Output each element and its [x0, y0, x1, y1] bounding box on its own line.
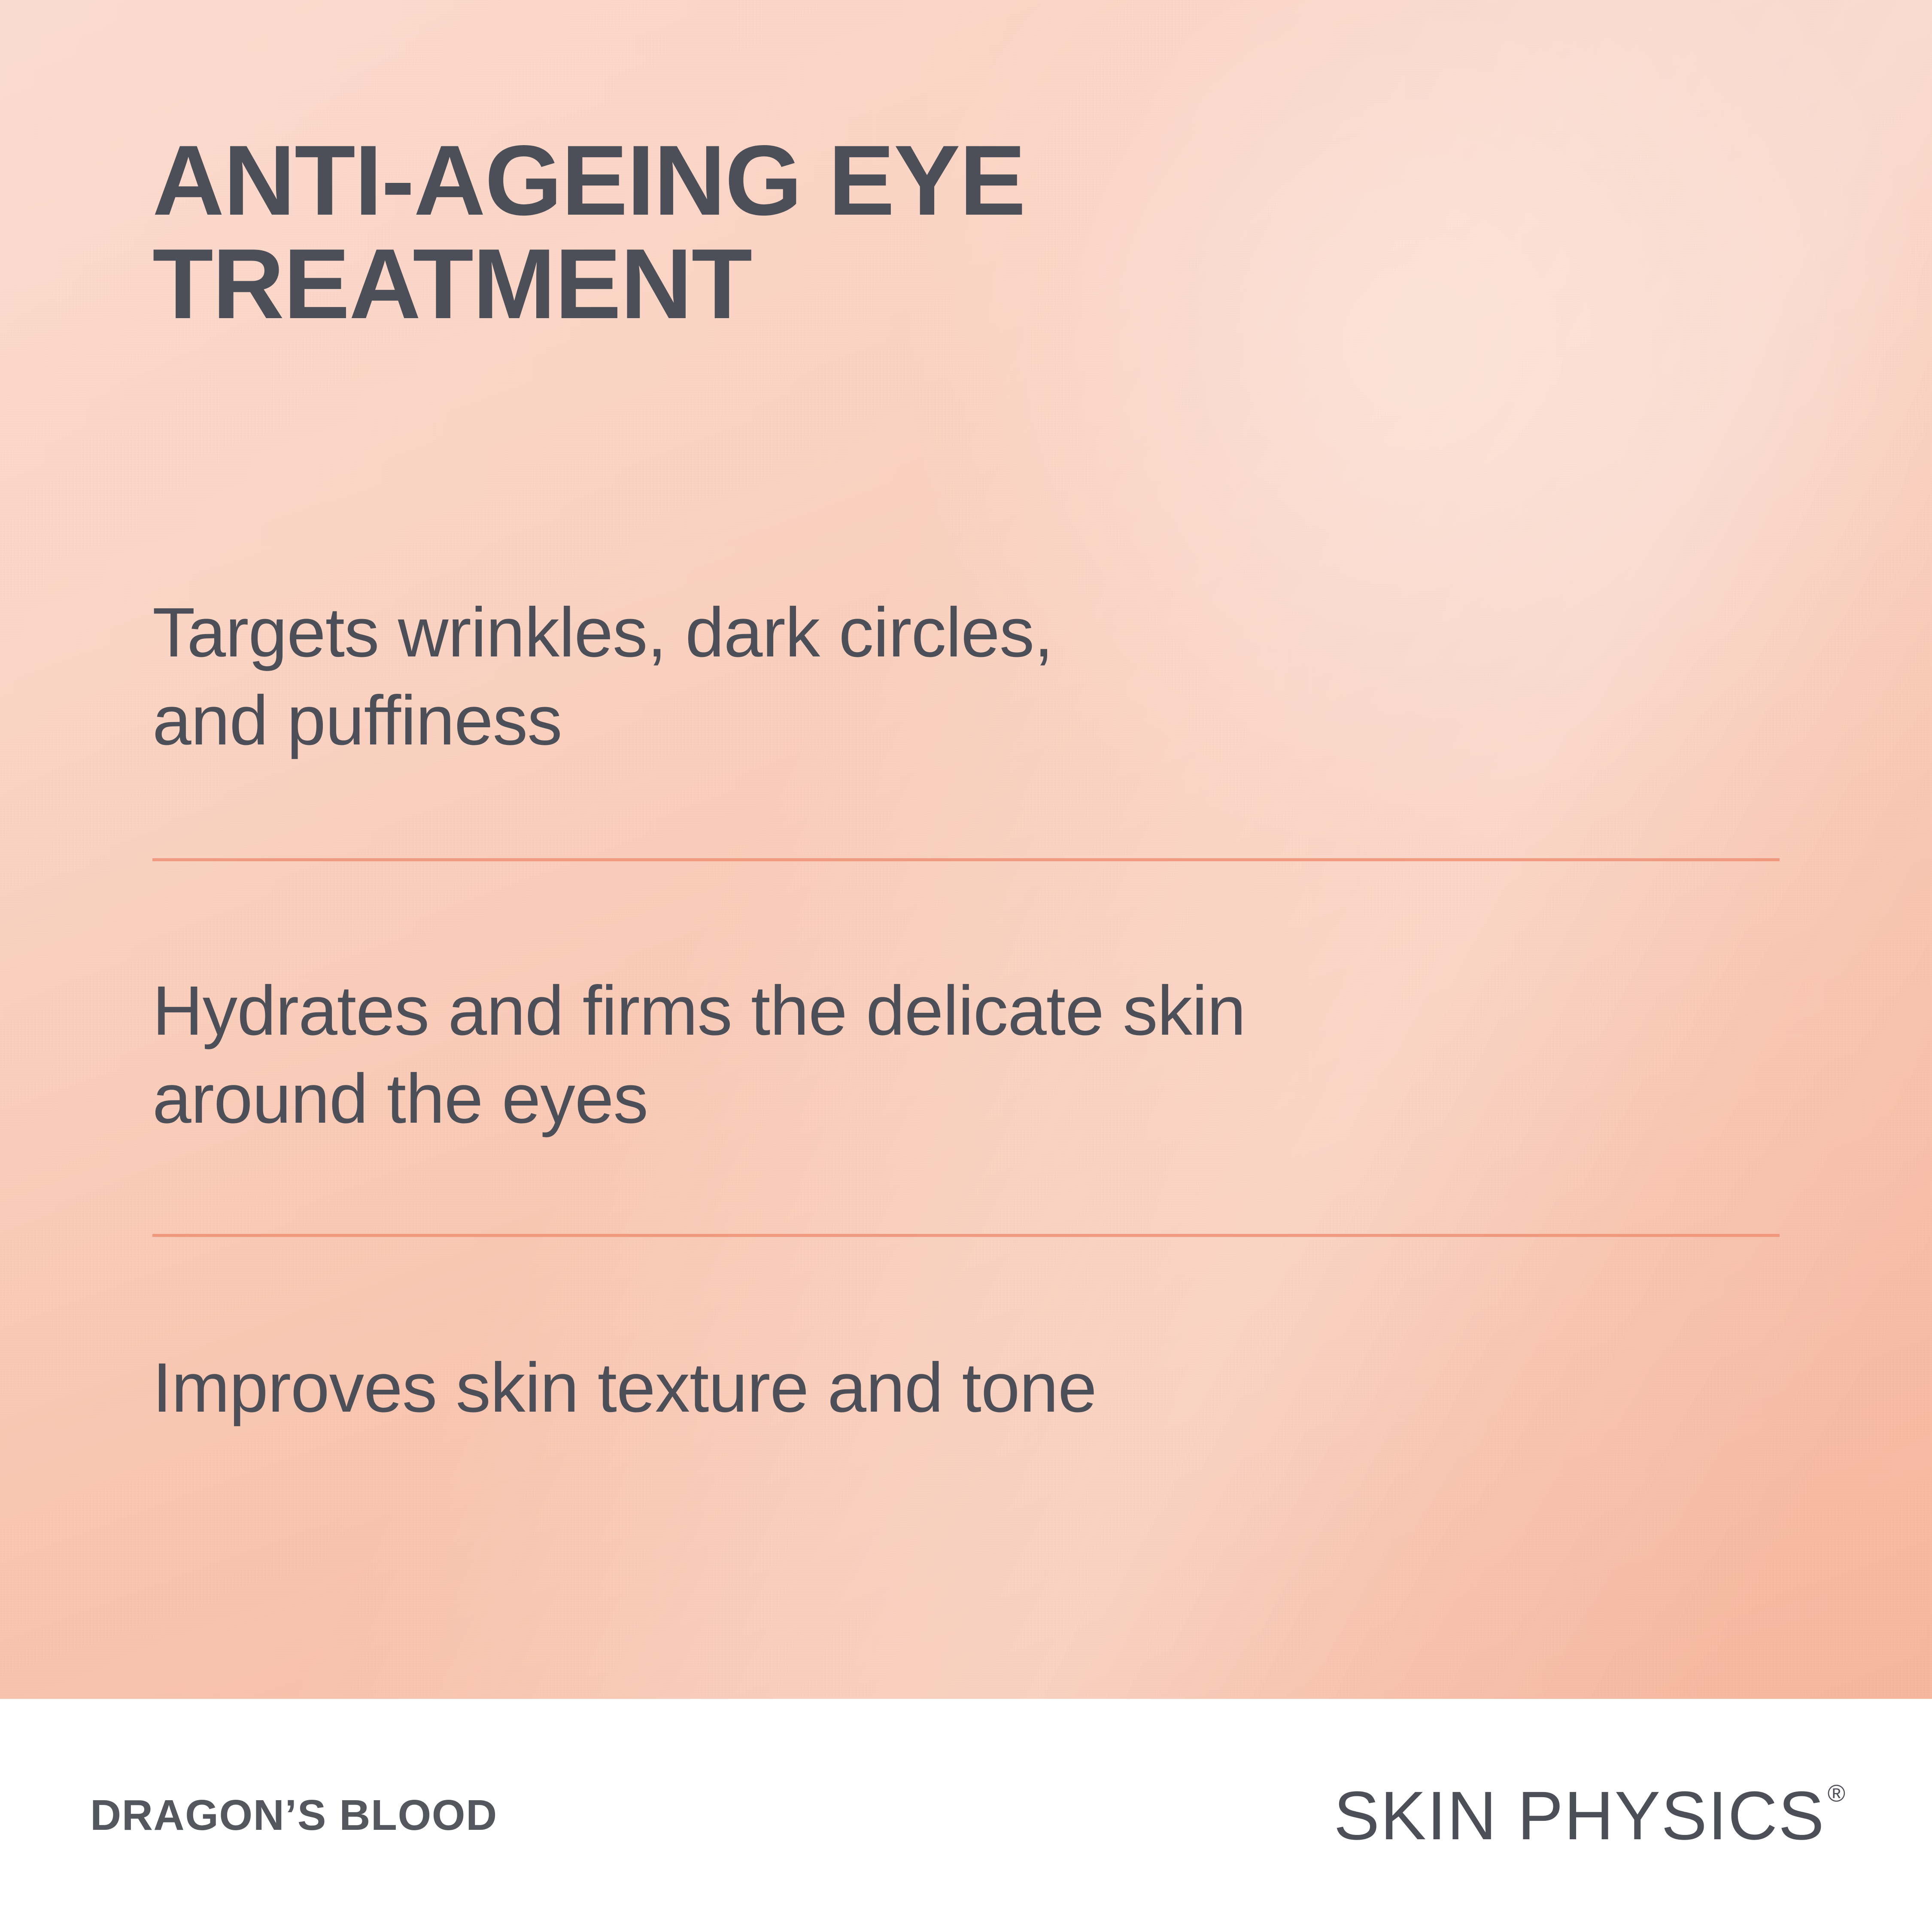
feature-divider-1 [152, 858, 1780, 861]
feature-item-2: Hydrates and firms the delicate skin aro… [152, 966, 1780, 1143]
spacer-2 [152, 861, 1780, 966]
brand-logo: SKIN PHYSICS ® [1334, 1776, 1846, 1855]
feature-item-1: Targets wrinkles, dark circles, and puff… [152, 588, 1780, 765]
spacer-1 [152, 765, 1780, 858]
spacer-4 [152, 1237, 1780, 1343]
feature-list: Targets wrinkles, dark circles, and puff… [152, 588, 1780, 1431]
spacer-3 [152, 1143, 1780, 1234]
feature-text-3: Improves skin texture and tone [152, 1343, 1780, 1431]
feature-item-3: Improves skin texture and tone [152, 1343, 1780, 1431]
ingredient-label: DRAGON’S BLOOD [90, 1791, 498, 1840]
feature-text-2: Hydrates and firms the delicate skin aro… [152, 966, 1780, 1143]
feature-text-1: Targets wrinkles, dark circles, and puff… [152, 588, 1780, 765]
feature-divider-2 [152, 1234, 1780, 1237]
footer-content: DRAGON’S BLOOD SKIN PHYSICS ® [90, 1699, 1846, 1932]
hero-content: ANTI-AGEING EYE TREATMENT Targets wrinkl… [152, 0, 1780, 1699]
page-title: ANTI-AGEING EYE TREATMENT [152, 129, 1312, 336]
footer-bar: DRAGON’S BLOOD SKIN PHYSICS ® [0, 1699, 1932, 1932]
registered-trademark-icon: ® [1828, 1781, 1846, 1805]
brand-name-text: SKIN PHYSICS [1334, 1776, 1825, 1855]
product-feature-card: ANTI-AGEING EYE TREATMENT Targets wrinkl… [0, 0, 1932, 1932]
hero-panel: ANTI-AGEING EYE TREATMENT Targets wrinkl… [0, 0, 1932, 1699]
